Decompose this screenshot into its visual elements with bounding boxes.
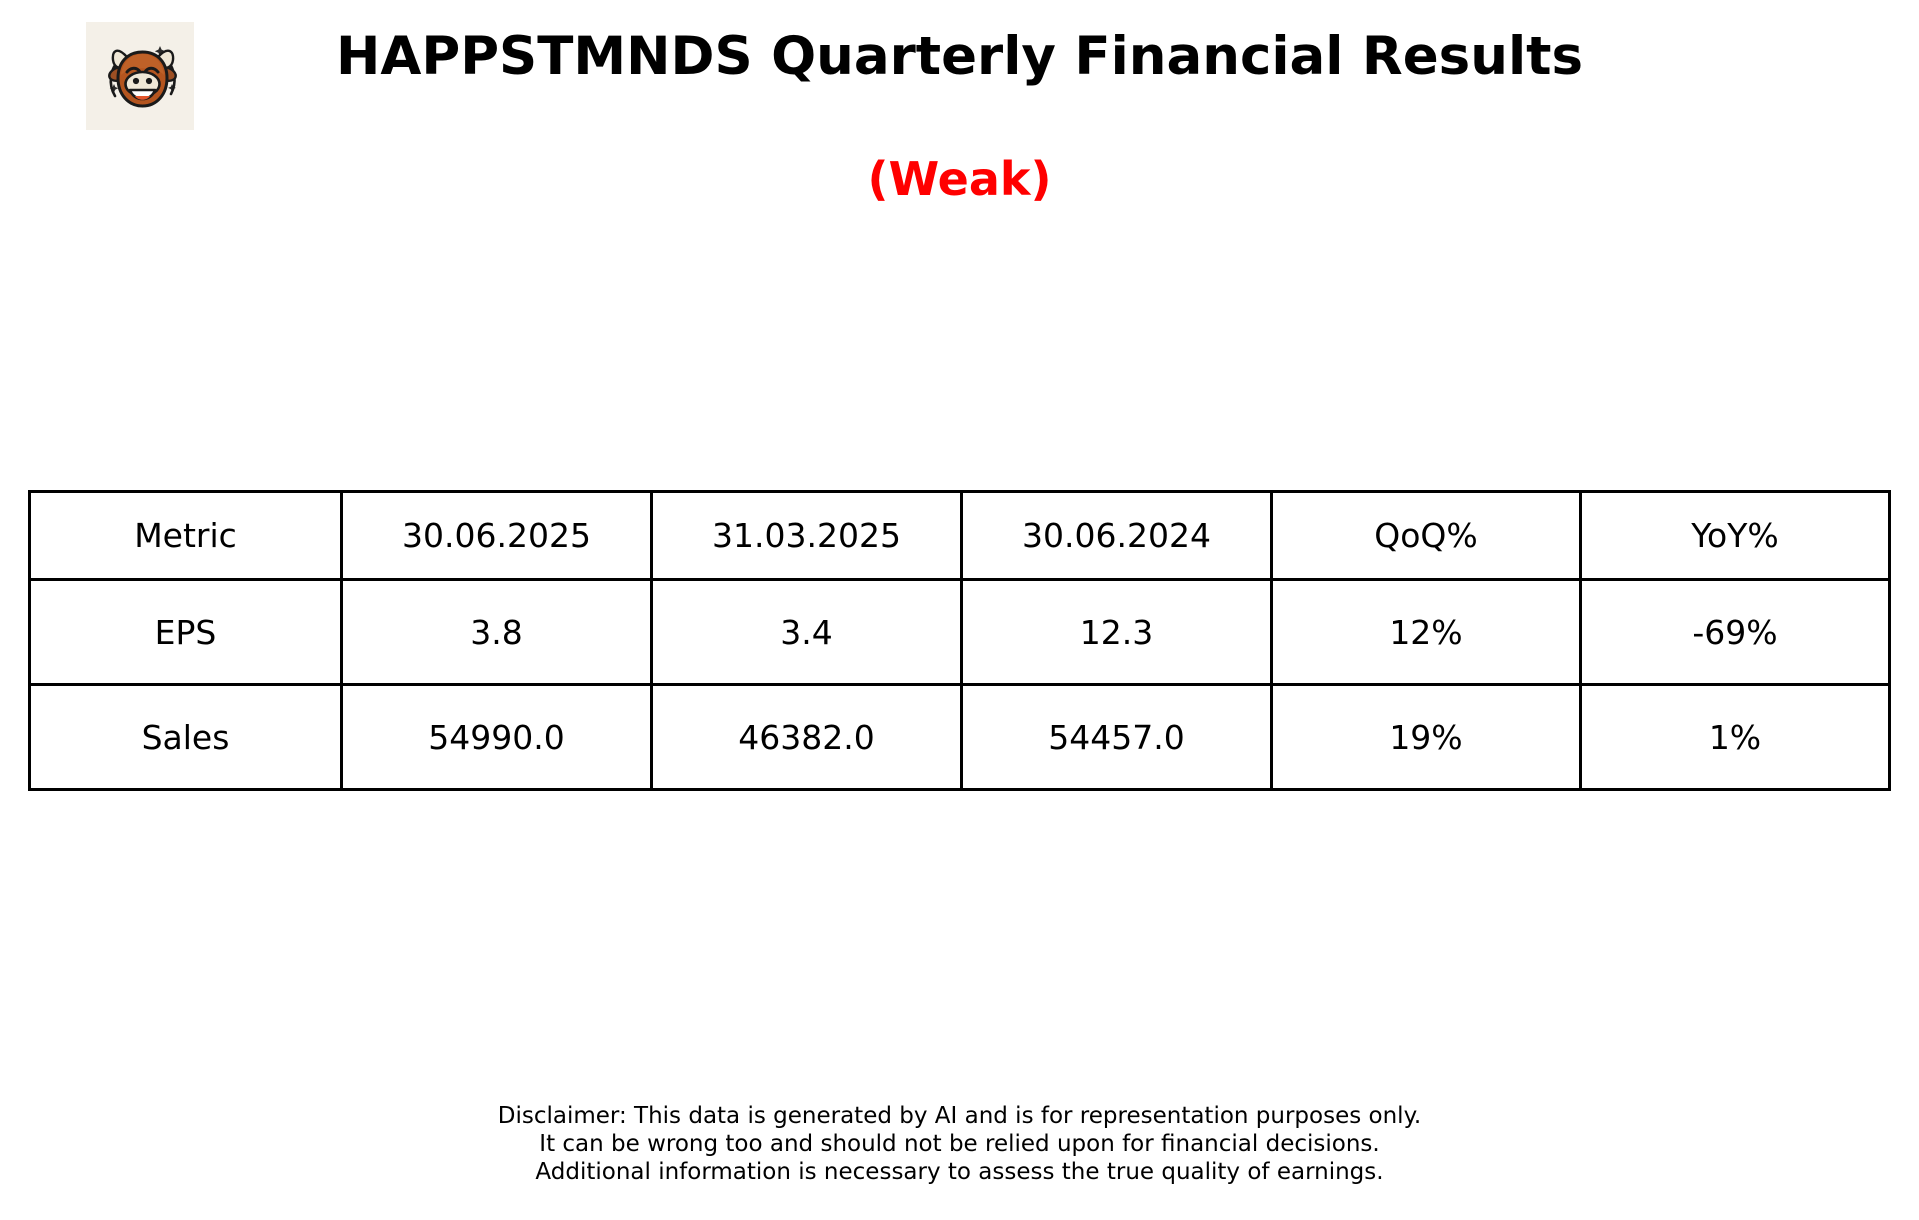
- column-header-metric: Metric: [30, 492, 342, 580]
- table-header-row: Metric 30.06.2025 31.03.2025 30.06.2024 …: [30, 492, 1890, 580]
- eps-yoy: -69%: [1581, 580, 1890, 685]
- disclaimer-line-3: Additional information is necessary to a…: [0, 1158, 1919, 1186]
- column-header-yoy: YoY%: [1581, 492, 1890, 580]
- column-header-current: 30.06.2025: [342, 492, 652, 580]
- sales-prev-quarter: 46382.0: [652, 685, 962, 790]
- page-title: HAPPSTMNDS Quarterly Financial Results: [0, 26, 1919, 87]
- disclaimer-line-1: Disclaimer: This data is generated by AI…: [0, 1102, 1919, 1130]
- row-label-eps: EPS: [30, 580, 342, 685]
- table-row: EPS 3.8 3.4 12.3 12% -69%: [30, 580, 1890, 685]
- quarterly-results-table: Metric 30.06.2025 31.03.2025 30.06.2024 …: [28, 490, 1891, 791]
- disclaimer: Disclaimer: This data is generated by AI…: [0, 1102, 1919, 1186]
- column-header-qoq: QoQ%: [1272, 492, 1581, 580]
- disclaimer-line-2: It can be wrong too and should not be re…: [0, 1130, 1919, 1158]
- sales-yoy: 1%: [1581, 685, 1890, 790]
- sales-qoq: 19%: [1272, 685, 1581, 790]
- column-header-prev-quarter: 31.03.2025: [652, 492, 962, 580]
- column-header-prev-year: 30.06.2024: [962, 492, 1272, 580]
- page-subtitle-sentiment: (Weak): [0, 152, 1919, 206]
- eps-prev-year: 12.3: [962, 580, 1272, 685]
- eps-prev-quarter: 3.4: [652, 580, 962, 685]
- sales-prev-year: 54457.0: [962, 685, 1272, 790]
- table-row: Sales 54990.0 46382.0 54457.0 19% 1%: [30, 685, 1890, 790]
- sales-current: 54990.0: [342, 685, 652, 790]
- eps-current: 3.8: [342, 580, 652, 685]
- eps-qoq: 12%: [1272, 580, 1581, 685]
- row-label-sales: Sales: [30, 685, 342, 790]
